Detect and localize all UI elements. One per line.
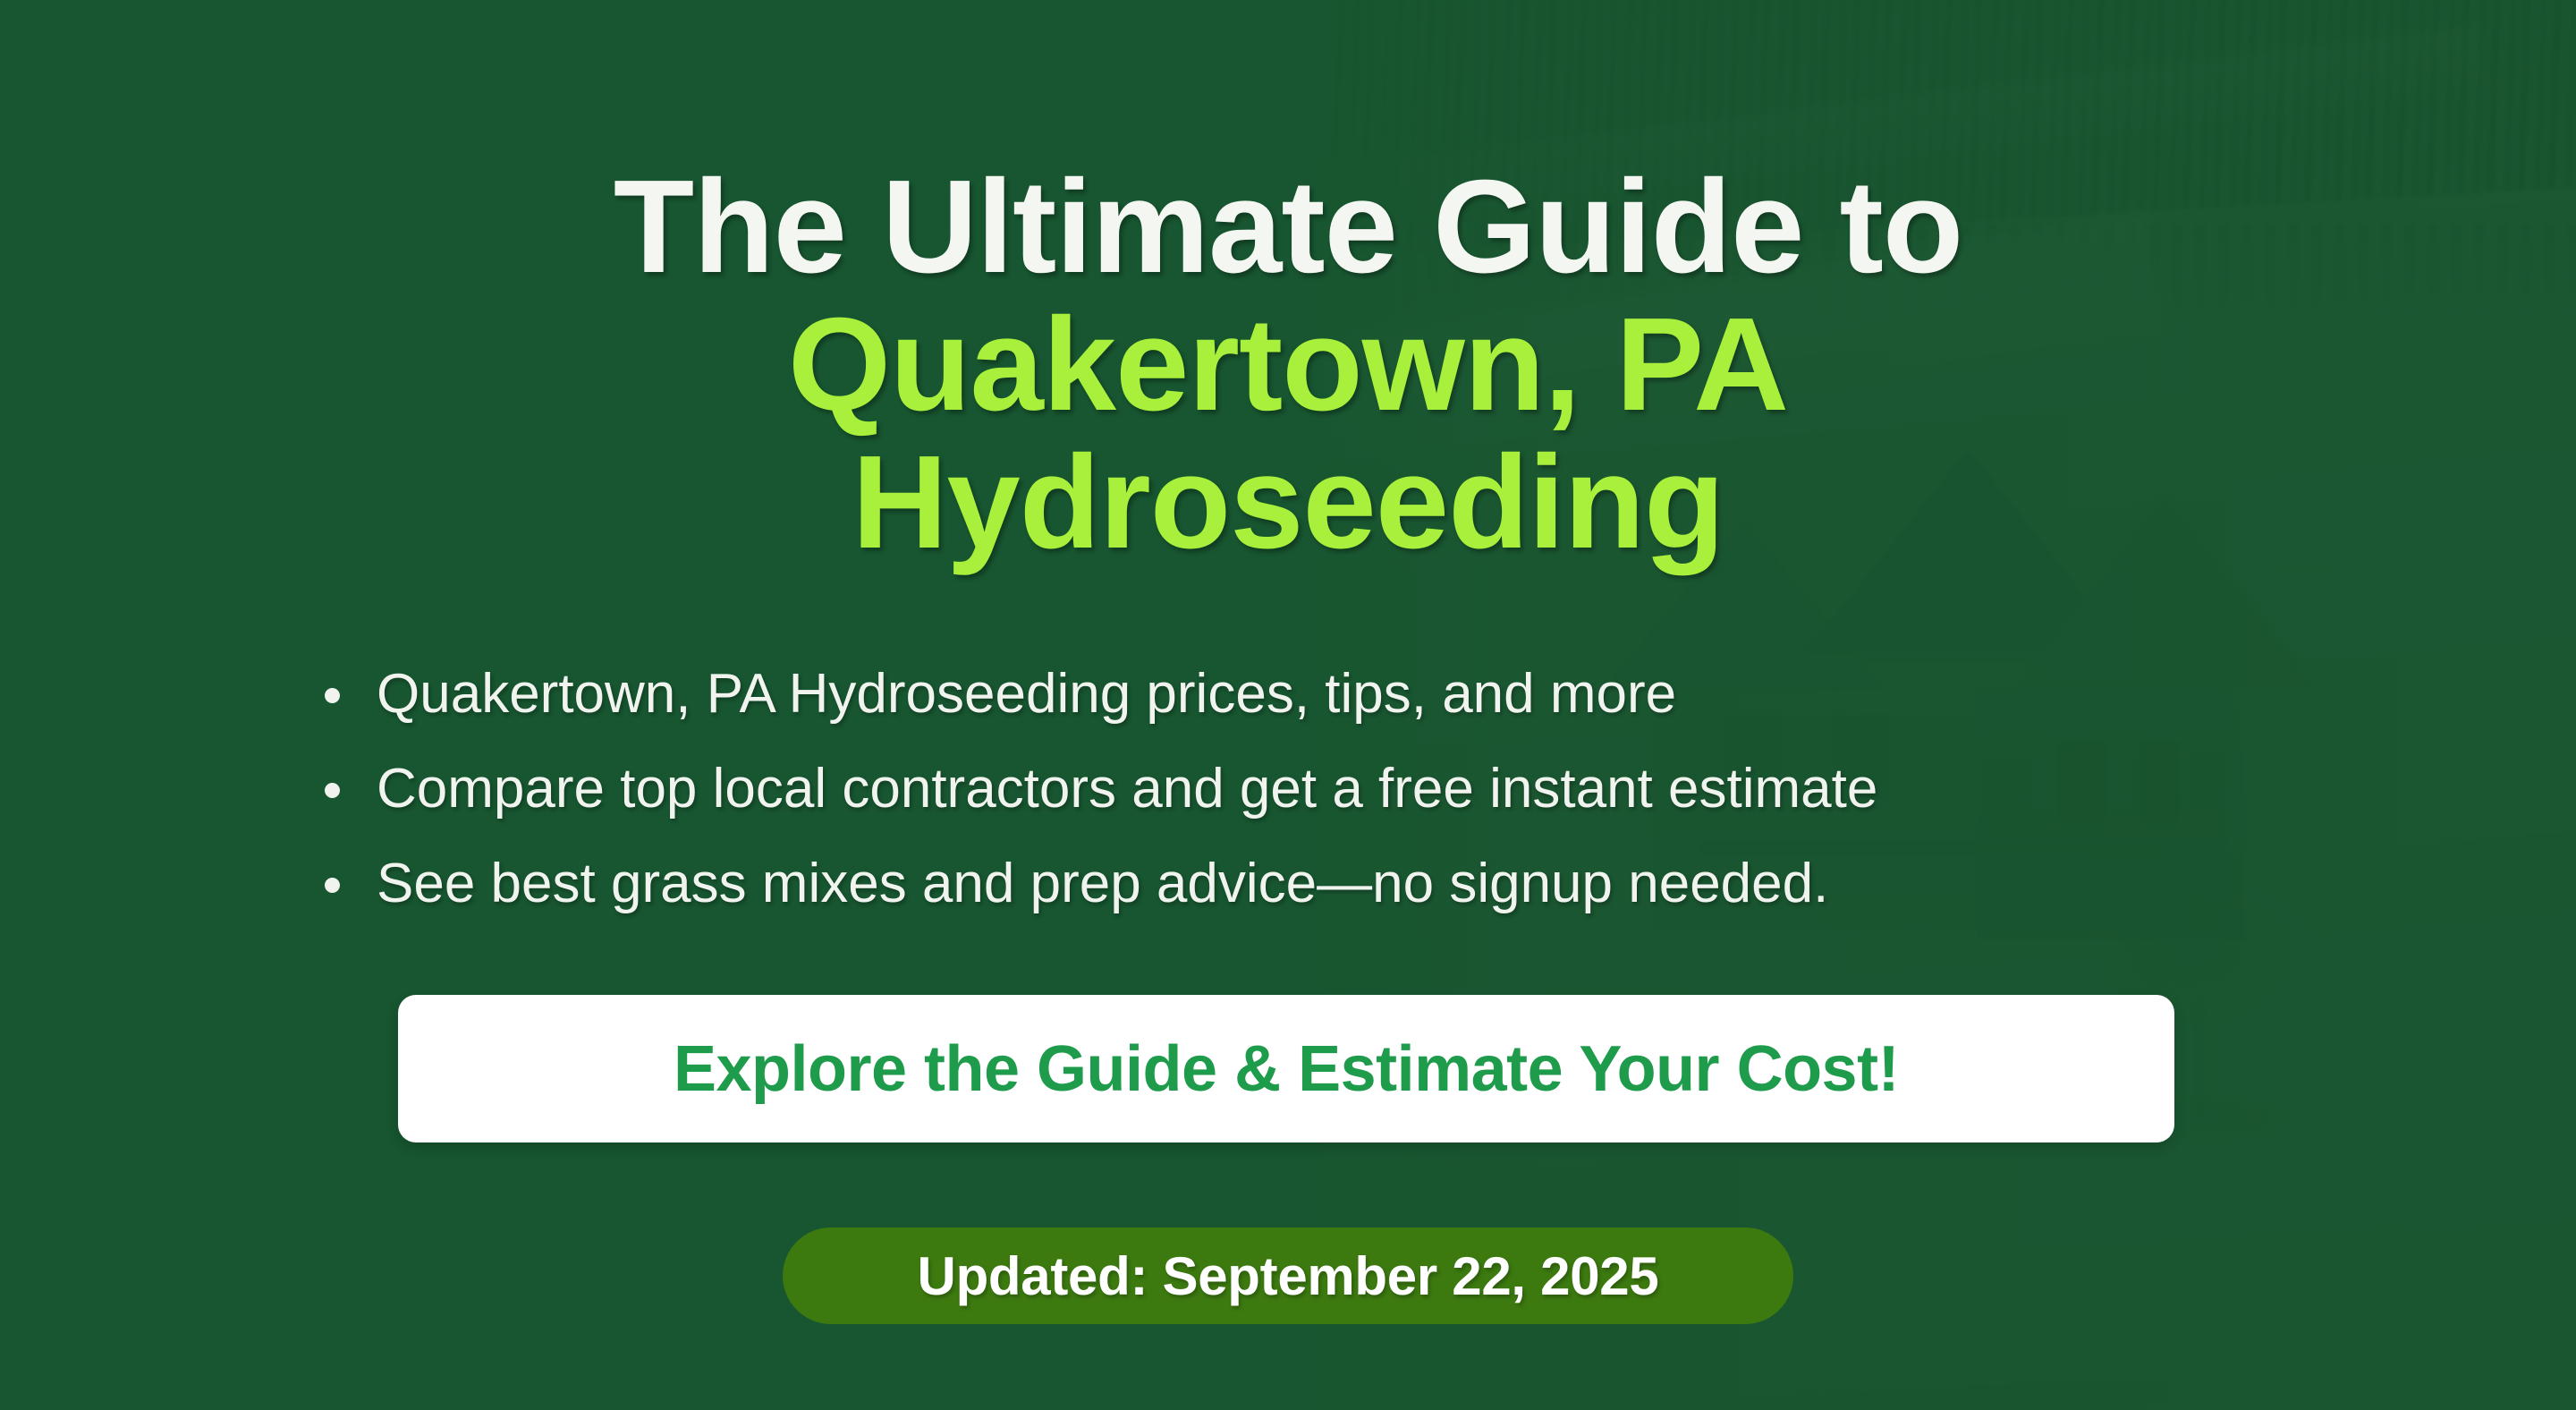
list-item: Compare top local contractors and get a …: [318, 761, 2285, 817]
bullet-text: See best grass mixes and prep advice—no …: [377, 853, 1828, 914]
updated-date-label: Updated: September 22, 2025: [918, 1245, 1659, 1307]
feature-bullet-list: Quakertown, PA Hydroseeding prices, tips…: [318, 667, 2285, 951]
list-item: Quakertown, PA Hydroseeding prices, tips…: [318, 667, 2285, 722]
page-title: The Ultimate Guide to Quakertown, PA Hyd…: [0, 158, 2576, 572]
hero-banner: The Ultimate Guide to Quakertown, PA Hyd…: [0, 0, 2576, 1410]
cta-label: Explore the Guide & Estimate Your Cost!: [674, 1032, 1899, 1106]
headline-line-1: The Ultimate Guide to: [614, 153, 1962, 301]
updated-date-badge: Updated: September 22, 2025: [783, 1227, 1793, 1324]
headline-line-2: Quakertown, PA: [107, 296, 2469, 434]
explore-guide-cta-button[interactable]: Explore the Guide & Estimate Your Cost!: [398, 995, 2174, 1142]
bullet-text: Compare top local contractors and get a …: [377, 758, 1877, 820]
bullet-text: Quakertown, PA Hydroseeding prices, tips…: [377, 663, 1676, 725]
banner-content: The Ultimate Guide to Quakertown, PA Hyd…: [0, 0, 2576, 1410]
headline-line-3: Hydroseeding: [107, 434, 2469, 572]
list-item: See best grass mixes and prep advice—no …: [318, 856, 2285, 912]
